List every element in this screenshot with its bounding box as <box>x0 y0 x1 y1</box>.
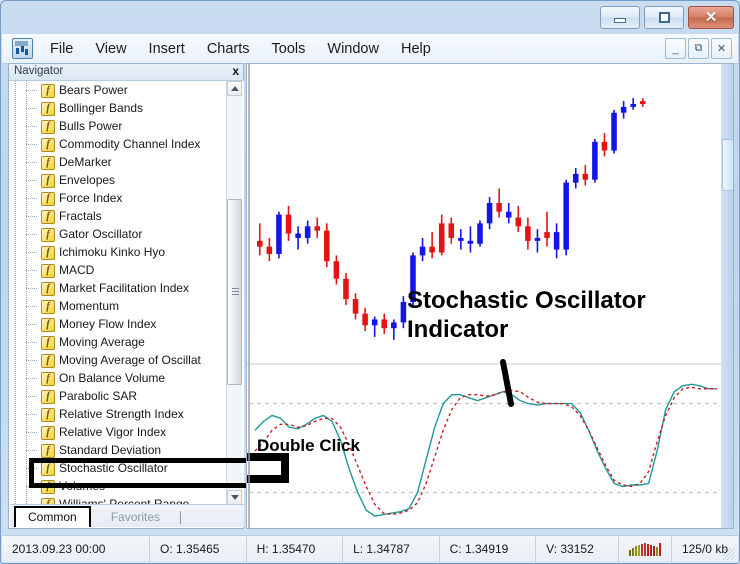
function-indicator-icon: f <box>41 408 55 422</box>
menu-item-insert[interactable]: Insert <box>140 38 194 60</box>
chart-scrollbar[interactable] <box>721 64 733 529</box>
title-bar: ✕ <box>1 1 739 34</box>
navigator-scrollbar[interactable] <box>226 81 242 505</box>
navigator-header: Navigator x <box>9 64 243 81</box>
navigator-title: Navigator <box>14 65 63 77</box>
navigator-item-label: Bears Power <box>59 83 128 97</box>
menu-bar: File View Insert Charts Tools Window Hel… <box>2 34 738 64</box>
stochastic-title-annotation: Stochastic Oscillator Indicator <box>407 286 646 344</box>
function-indicator-icon: f <box>41 210 55 224</box>
navigator-item-label: Bollinger Bands <box>59 101 143 115</box>
function-indicator-icon: f <box>41 174 55 188</box>
navigator-item[interactable]: fMoney Flow Index <box>10 315 244 333</box>
navigator-item[interactable]: fMomentum <box>10 297 244 315</box>
status-signal-cell <box>619 536 672 562</box>
navigator-item[interactable]: fBollinger Bands <box>10 99 244 117</box>
function-indicator-icon: f <box>41 102 55 116</box>
function-indicator-icon: f <box>41 282 55 296</box>
navigator-item[interactable]: fForce Index <box>10 189 244 207</box>
navigator-item[interactable]: fStandard Deviation <box>10 441 244 459</box>
function-indicator-icon: f <box>41 372 55 386</box>
signal-bar <box>659 543 661 556</box>
navigator-item-label: Market Facilitation Index <box>59 281 189 295</box>
signal-bar <box>635 546 637 556</box>
minimize-icon <box>614 18 626 23</box>
metatrader-chart-icon <box>12 38 33 59</box>
function-indicator-icon: f <box>41 156 55 170</box>
window-controls: ✕ <box>600 6 734 29</box>
navigator-item-label: Parabolic SAR <box>59 389 137 403</box>
menu-item-view[interactable]: View <box>86 38 135 60</box>
scroll-down-arrow-icon[interactable] <box>227 490 242 505</box>
navigator-item-label: DeMarker <box>59 155 112 169</box>
navigator-item-label: Money Flow Index <box>59 317 156 331</box>
scrollbar-grip-icon <box>232 288 239 296</box>
tab-common[interactable]: Common <box>14 506 91 527</box>
function-indicator-icon: f <box>41 300 55 314</box>
navigator-item-label: Gator Oscillator <box>59 227 142 241</box>
navigator-indicator-list[interactable]: fBears PowerfBollinger BandsfBulls Power… <box>10 81 244 505</box>
signal-bar <box>632 548 634 556</box>
signal-bar <box>650 545 652 556</box>
navigator-item[interactable]: fGator Oscillator <box>10 225 244 243</box>
navigator-item-label: Standard Deviation <box>59 443 161 457</box>
navigator-item-label: Moving Average <box>59 335 145 349</box>
stochastic-title-line2: Indicator <box>407 315 646 344</box>
function-indicator-icon: f <box>41 192 55 206</box>
function-indicator-icon: f <box>41 264 55 278</box>
navigator-item[interactable]: fRelative Vigor Index <box>10 423 244 441</box>
navigator-item-label: Momentum <box>59 299 119 313</box>
navigator-item-label: Relative Vigor Index <box>59 425 166 439</box>
status-low: L: 1.34787 <box>343 536 440 562</box>
navigator-item[interactable]: fCommodity Channel Index <box>10 135 244 153</box>
navigator-item[interactable]: fDeMarker <box>10 153 244 171</box>
navigator-item-label: On Balance Volume <box>59 371 165 385</box>
function-indicator-icon: f <box>41 336 55 350</box>
signal-bar <box>644 543 646 556</box>
scrollbar-thumb[interactable] <box>227 199 242 385</box>
status-datetime: 2013.09.23 00:00 <box>2 536 150 562</box>
navigator-item-label: Ichimoku Kinko Hyo <box>59 245 165 259</box>
function-indicator-icon: f <box>41 390 55 404</box>
close-button[interactable]: ✕ <box>688 6 734 29</box>
stochastic-title-line1: Stochastic Oscillator <box>407 286 646 315</box>
navigator-item[interactable]: fRelative Strength Index <box>10 405 244 423</box>
minimize-button[interactable] <box>600 6 640 29</box>
function-indicator-icon: f <box>41 444 55 458</box>
function-indicator-icon: f <box>41 246 55 260</box>
restore-button[interactable] <box>644 6 684 29</box>
status-close: C: 1.34919 <box>440 536 537 562</box>
navigator-item-label: Force Index <box>59 191 122 205</box>
navigator-item[interactable]: fBulls Power <box>10 117 244 135</box>
navigator-item[interactable]: fIchimoku Kinko Hyo <box>10 243 244 261</box>
function-indicator-icon: f <box>41 228 55 242</box>
mdi-restore-button[interactable]: ⧉ <box>688 38 709 59</box>
signal-bar <box>638 545 640 556</box>
tab-divider <box>180 511 181 524</box>
navigator-item[interactable]: fParabolic SAR <box>10 387 244 405</box>
scroll-up-arrow-icon[interactable] <box>227 81 242 96</box>
function-indicator-icon: f <box>41 84 55 98</box>
navigator-item-label: Moving Average of Oscillat <box>59 353 201 367</box>
navigator-item-label: Commodity Channel Index <box>59 137 200 151</box>
mdi-window-controls: _ ⧉ ✕ <box>665 38 732 59</box>
chart-window[interactable]: Stochastic Oscillator Indicator Double C… <box>246 63 734 529</box>
navigator-item[interactable]: fFractals <box>10 207 244 225</box>
function-indicator-icon: f <box>41 138 55 152</box>
mdi-minimize-button[interactable]: _ <box>665 38 686 59</box>
navigator-item[interactable]: fMoving Average of Oscillat <box>10 351 244 369</box>
menu-item-tools[interactable]: Tools <box>263 38 315 60</box>
navigator-item[interactable]: fMACD <box>10 261 244 279</box>
tab-favorites[interactable]: Favorites <box>99 508 172 527</box>
function-indicator-icon: f <box>41 318 55 332</box>
resize-grip-icon[interactable] <box>723 548 735 560</box>
menu-item-window[interactable]: Window <box>318 38 388 60</box>
navigator-item[interactable]: fEnvelopes <box>10 171 244 189</box>
navigator-item[interactable]: fMarket Facilitation Index <box>10 279 244 297</box>
status-bar: 2013.09.23 00:00 O: 1.35465 H: 1.35470 L… <box>2 535 738 562</box>
navigator-close-icon[interactable]: x <box>232 64 239 78</box>
signal-bar <box>647 544 649 556</box>
navigator-item-label: Relative Strength Index <box>59 407 184 421</box>
metatrader-window: ✕ File View Insert Charts Tools Window H… <box>0 0 740 564</box>
navigator-item[interactable]: fBears Power <box>10 81 244 99</box>
function-indicator-icon: f <box>41 426 55 440</box>
restore-icon <box>659 12 670 23</box>
menu-item-charts[interactable]: Charts <box>198 38 259 60</box>
signal-bar <box>629 550 631 556</box>
navigator-item-label: Bulls Power <box>59 119 122 133</box>
navigator-tabs: Common Favorites <box>10 504 244 527</box>
close-icon: ✕ <box>705 10 718 25</box>
signal-bar <box>641 544 643 556</box>
signal-strength-icon <box>619 543 671 556</box>
function-indicator-icon: f <box>41 120 55 134</box>
menu-item-file[interactable]: File <box>41 38 82 60</box>
status-volume: V: 33152 <box>536 536 619 562</box>
signal-bar <box>653 546 655 556</box>
mdi-close-button[interactable]: ✕ <box>711 38 732 59</box>
signal-bar <box>656 547 658 556</box>
chart-scrollbar-thumb[interactable] <box>722 139 734 191</box>
double-click-annotation: Double Click <box>257 436 360 456</box>
navigator-item[interactable]: fOn Balance Volume <box>10 369 244 387</box>
navigator-item[interactable]: fMoving Average <box>10 333 244 351</box>
navigator-item-label: Fractals <box>59 209 102 223</box>
navigator-item-label: MACD <box>59 263 94 277</box>
navigator-item-label: Envelopes <box>59 173 115 187</box>
status-open: O: 1.35465 <box>150 536 247 562</box>
function-indicator-icon: f <box>41 354 55 368</box>
status-high: H: 1.35470 <box>247 536 344 562</box>
menu-item-help[interactable]: Help <box>392 38 440 60</box>
